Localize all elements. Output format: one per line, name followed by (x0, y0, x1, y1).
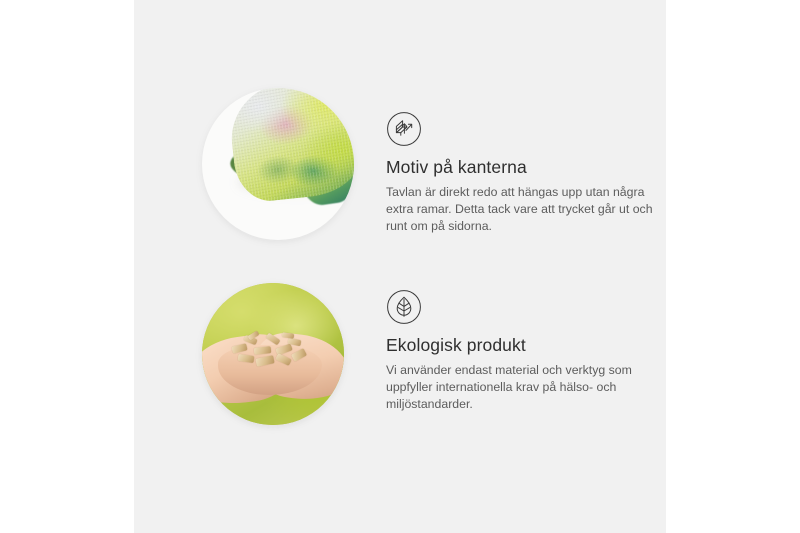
product-feature-infographic: Motiv på kanterna Tavlan är direkt redo … (0, 0, 800, 533)
feature-text-ekologisk-produkt: Ekologisk produkt Vi använder endast mat… (386, 334, 662, 414)
content-panel: Motiv på kanterna Tavlan är direkt redo … (134, 0, 666, 533)
feature-title: Ekologisk produkt (386, 334, 662, 356)
feature-description: Vi använder endast material och verktyg … (386, 362, 662, 414)
canvas-wrapped-edges-icon (386, 111, 422, 147)
leaf-icon (386, 289, 422, 325)
canvas-corner-photo (202, 88, 354, 240)
feature-title: Motiv på kanterna (386, 156, 662, 178)
feature-description: Tavlan är direkt redo att hängas upp uta… (386, 184, 662, 236)
feature-text-motiv-pa-kanterna: Motiv på kanterna Tavlan är direkt redo … (386, 156, 662, 236)
canvas-artwork-illustration (232, 88, 354, 224)
wood-chips-in-hands-photo (202, 283, 344, 425)
canvas-print-face (226, 88, 354, 204)
wood-chips-pile (230, 331, 314, 369)
